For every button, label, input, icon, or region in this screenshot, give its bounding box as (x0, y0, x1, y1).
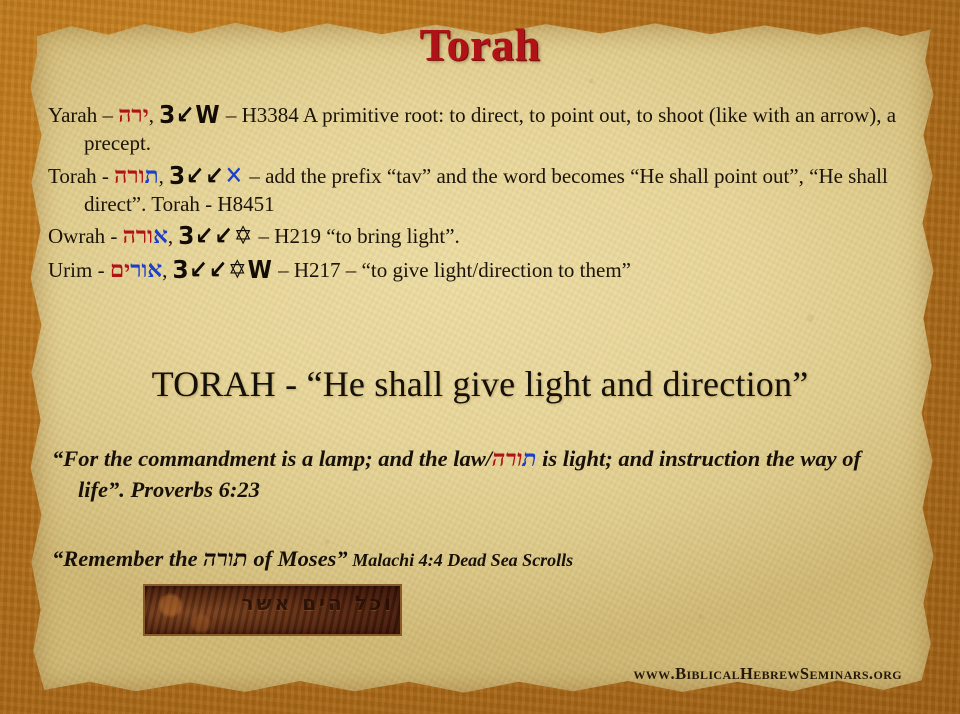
slide-canvas: Torah Yarah – ירה, З↙W – H3384 A primiti… (0, 0, 960, 714)
entry-owrah-paleo: З↙↙✡ (178, 221, 253, 253)
entry-urim-paleo: З↙↙✡W (173, 255, 273, 287)
entry-torah-hebrew-tav: ת (145, 163, 159, 188)
entry-urim: Urim - אורים, З↙↙✡W – H217 – “to give li… (48, 255, 934, 285)
entry-torah-paleo: З↙↙ (169, 160, 225, 192)
entry-urim-definition: – “to give light/direction to them” (341, 258, 631, 282)
entry-yarah-paleo: З↙W (159, 100, 220, 132)
proverbs-hebrew-root: ורה (492, 446, 522, 471)
entry-urim-strongs: H217 (294, 258, 341, 282)
entry-owrah-hebrew-root: ורה (123, 223, 153, 248)
proverbs-verse-part1: “For the commandment is a lamp; and the … (52, 446, 492, 471)
entry-owrah-strongs: H219 (274, 224, 321, 248)
definition-list: Yarah – ירה, З↙W – H3384 A primitive roo… (48, 100, 934, 289)
entry-yarah-lead: Yarah – (48, 103, 118, 127)
proverbs-hebrew-tav: ת (522, 446, 536, 471)
malachi-part1: “Remember the (52, 546, 203, 571)
big-statement: TORAH - “He shall give light and directi… (0, 363, 960, 405)
entry-urim-hebrew-root: אור (130, 257, 162, 282)
entry-owrah-dash: – (253, 224, 274, 248)
scroll-hebrew-glyphs: וכל הים אשר (159, 591, 394, 615)
entry-urim-sep: , (162, 258, 173, 282)
dead-sea-scroll-image: וכל הים אשר (143, 584, 402, 636)
malachi-part2: of Moses” (248, 546, 348, 571)
page-title: Torah (0, 18, 960, 71)
entry-yarah-hebrew: ירה (118, 102, 149, 127)
entry-owrah: Owrah - אורה, З↙↙✡ – H219 “to bring ligh… (48, 221, 934, 251)
malachi-hebrew: תורה (203, 546, 247, 571)
entry-torah-paleo-tav: ✕ (225, 160, 244, 192)
entry-torah: Torah - תורה, З↙↙✕ – add the prefix “tav… (48, 161, 934, 218)
entry-yarah-sep: , (149, 103, 160, 127)
entry-yarah-strongs: H3384 (242, 103, 299, 127)
entry-owrah-lead: Owrah - (48, 224, 123, 248)
entry-owrah-definition: “to bring light”. (321, 224, 460, 248)
slide-content: Torah Yarah – ירה, З↙W – H3384 A primiti… (0, 0, 960, 714)
entry-urim-lead: Urim - (48, 258, 110, 282)
entry-owrah-sep: , (168, 224, 179, 248)
entry-owrah-hebrew-aleph: א (153, 223, 168, 248)
entry-yarah: Yarah – ירה, З↙W – H3384 A primitive roo… (48, 100, 934, 157)
entry-urim-dash: – (273, 258, 294, 282)
entry-torah-hebrew-root: ורה (114, 163, 144, 188)
entry-torah-sep: , (159, 164, 170, 188)
footer-website: www.BiblicalHebrewSeminars.org (633, 664, 902, 684)
proverbs-verse: “For the commandment is a lamp; and the … (52, 444, 870, 505)
malachi-verse: “Remember the תורה of Moses” Malachi 4:4… (52, 546, 573, 572)
malachi-citation: Malachi 4:4 Dead Sea Scrolls (348, 550, 574, 570)
entry-urim-hebrew-suffix: ים (110, 257, 130, 282)
entry-torah-lead: Torah - (48, 164, 114, 188)
entry-yarah-dash: – (221, 103, 242, 127)
